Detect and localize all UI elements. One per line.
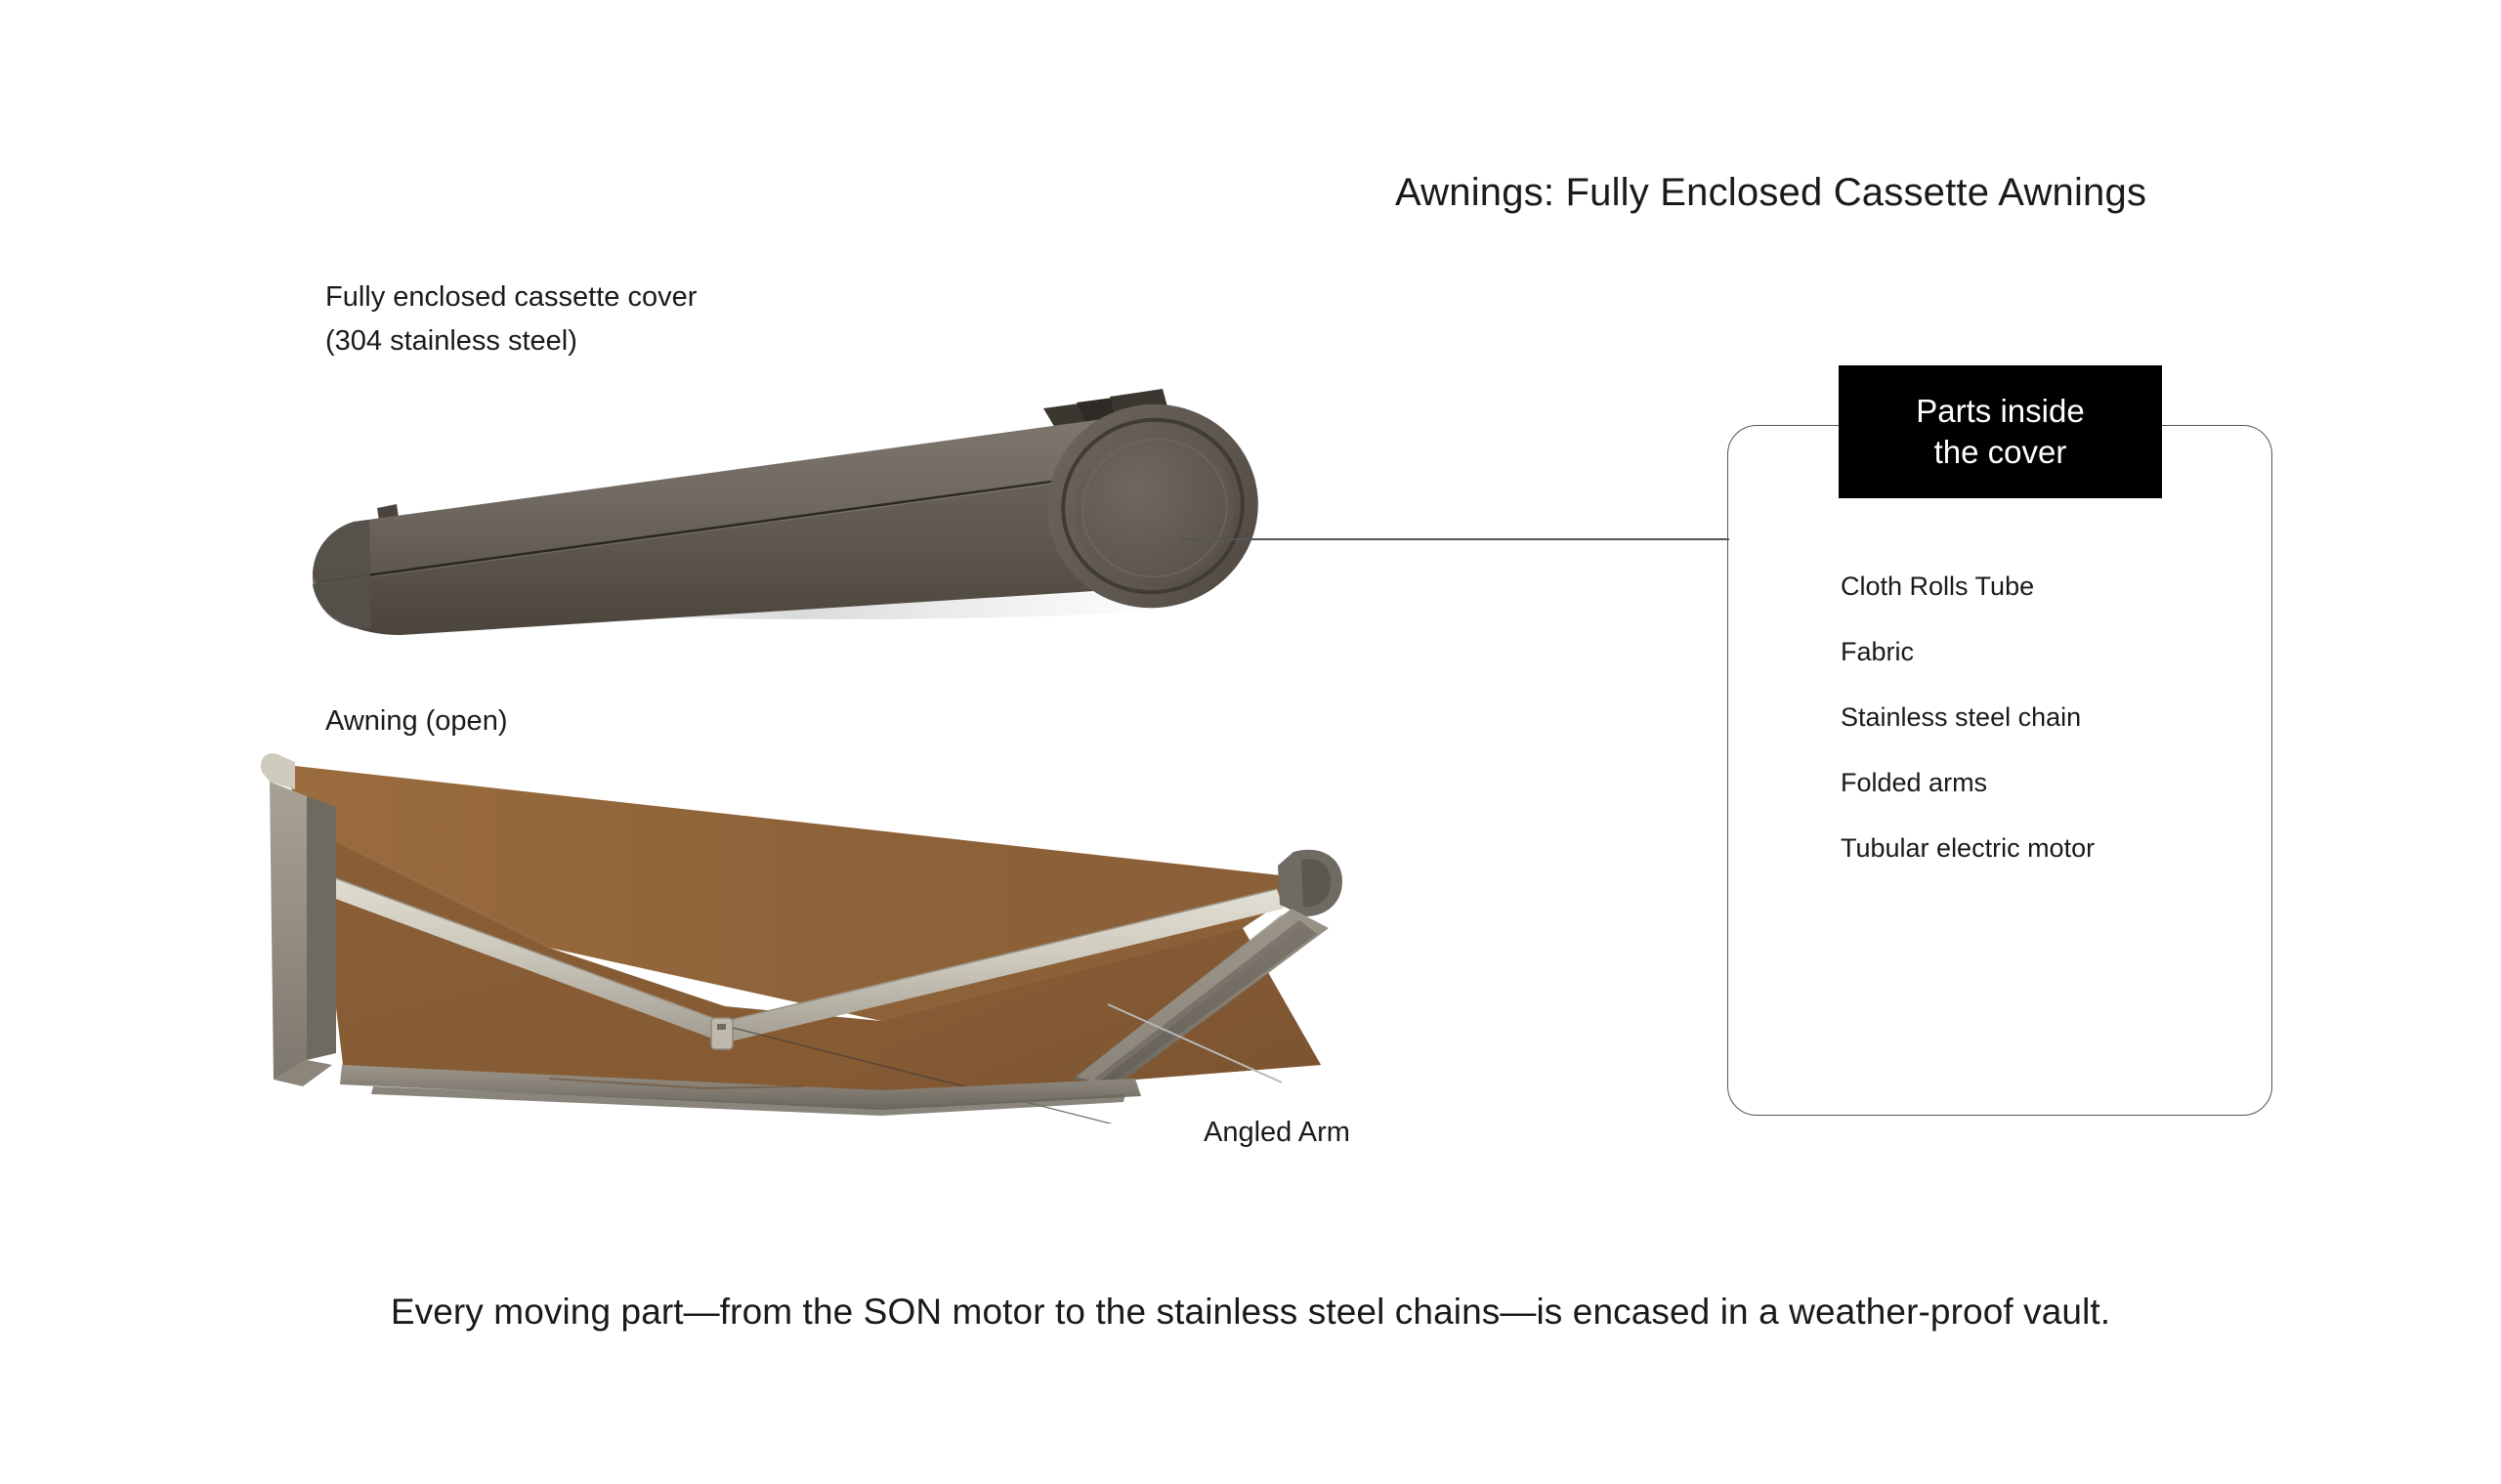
parts-inside-cover-title: Parts inside the cover [1839, 365, 2162, 498]
parts-title-line2: the cover [1934, 432, 2067, 473]
awning-arm-elbow [711, 1018, 733, 1049]
page-title: Awnings: Fully Enclosed Cassette Awnings [1395, 171, 2294, 215]
cassette-to-parts-connector [1180, 538, 1729, 540]
parts-list-item: Fabric [1841, 635, 2261, 700]
cassette-cover-image [283, 342, 1270, 635]
awning-wall-bracket [261, 753, 336, 1086]
parts-list-item: Stainless steel chain [1841, 700, 2261, 766]
parts-title-line1: Parts inside [1916, 391, 2084, 432]
angled-arm-leader-line [1104, 996, 1290, 1089]
parts-list-item: Folded arms [1841, 766, 2261, 831]
parts-list-item: Cloth Rolls Tube [1841, 570, 2261, 635]
parts-list-item: Tubular electric motor [1841, 831, 2261, 897]
bottom-caption: Every moving part—from the SON motor to … [0, 1292, 2501, 1333]
cassette-left-end [313, 520, 371, 628]
awning-open-label: Awning (open) [325, 705, 507, 738]
parts-list: Cloth Rolls Tube Fabric Stainless steel … [1841, 570, 2261, 897]
awning-roller-endcap [1278, 850, 1342, 916]
cassette-cover-label-line1: Fully enclosed cassette cover [325, 281, 697, 313]
angled-arm-label: Angled Arm [1204, 1117, 1350, 1149]
